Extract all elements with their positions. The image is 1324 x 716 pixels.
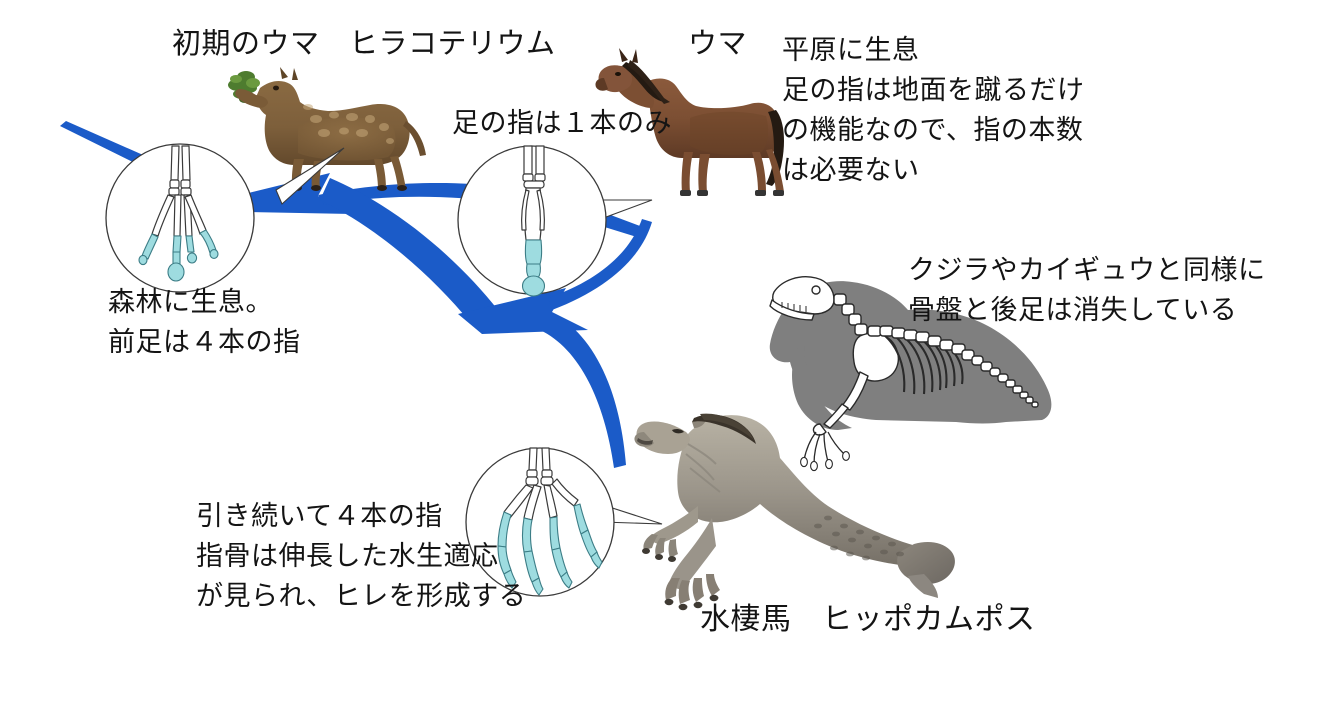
label-horse: ウマ xyxy=(688,24,747,64)
note-aquatic-adaptation: 引き続いて４本の指 指骨は伸長した水生適応 が見られ、ヒレを形成する xyxy=(196,496,526,616)
note-whale-comparison: クジラやカイギュウと同様に 骨盤と後足は消失している xyxy=(908,250,1266,330)
label-hippocampus: 水棲馬 ヒッポカムポス xyxy=(700,600,1036,640)
hippocampus-illustration xyxy=(628,388,964,614)
callout-horse-hoof xyxy=(456,142,656,302)
diagram-canvas: 初期のウマ ヒラコテリウム ウマ 足の指は１本のみ 平原に生息 足の指は地面を蹴… xyxy=(0,0,1324,716)
note-plains: 平原に生息 足の指は地面を蹴るだけ の機能なので、指の本数 は必要ない xyxy=(782,30,1085,190)
note-forest: 森林に生息。 前足は４本の指 xyxy=(108,282,301,362)
callout-hyracotherium-forefoot xyxy=(86,142,356,292)
label-early-horse: 初期のウマ ヒラコテリウム xyxy=(172,24,556,64)
note-one-toe: 足の指は１本のみ xyxy=(452,103,672,143)
